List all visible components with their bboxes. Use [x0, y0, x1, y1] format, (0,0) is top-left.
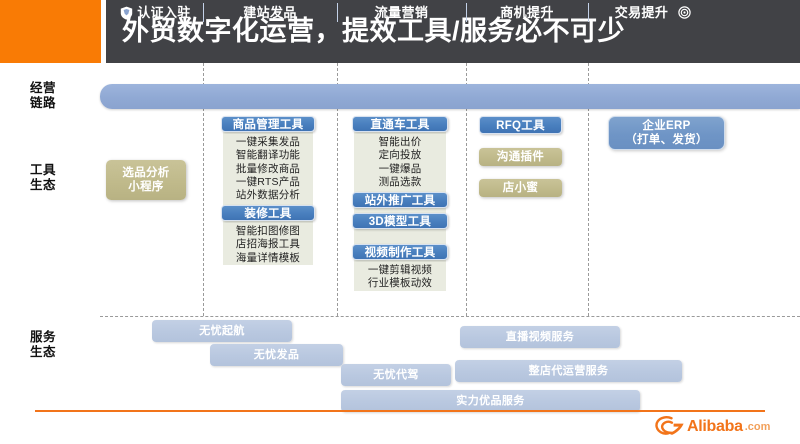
row-label-tools: 工具 生态: [30, 163, 90, 193]
stage-item-2-label: 建站发品: [243, 0, 297, 25]
stage-item-4[interactable]: 商机提升: [466, 0, 588, 25]
row-label-tools-line1: 工具: [30, 163, 90, 178]
stage-item-1[interactable]: 认证入驻: [108, 0, 203, 25]
tool-card-shop-assistant-label: 店小蜜: [503, 181, 538, 195]
tool-header-product-management[interactable]: 商品管理工具: [221, 116, 315, 132]
tool-list-video-production: 一键剪辑视频 行业模板动效: [354, 262, 446, 291]
service-bar-full-shop-operation[interactable]: 整店代运营服务: [455, 360, 682, 382]
service-section-divider: [100, 316, 800, 317]
tool-card-shop-assistant[interactable]: 店小蜜: [479, 179, 562, 197]
tool-header-decoration[interactable]: 装修工具: [221, 205, 315, 221]
alibaba-logo: Alibaba .com: [655, 414, 770, 440]
row-label-chain: 经营 链路: [30, 81, 90, 111]
tool-item: 站外数据分析: [223, 189, 313, 202]
target-icon: [678, 6, 691, 19]
row-label-chain-line1: 经营: [30, 81, 90, 96]
shield-icon: [120, 6, 133, 20]
stage-item-2[interactable]: 建站发品: [203, 0, 337, 25]
stage-item-5-label: 交易提升: [615, 0, 669, 25]
tool-card-chat-plugin-label: 沟通插件: [497, 150, 544, 164]
stage-item-1-label: 认证入驻: [137, 0, 191, 25]
tool-item: 一键RTS产品: [223, 176, 313, 189]
service-bar-worry-free-listing[interactable]: 无忧发品: [210, 344, 343, 366]
tool-item: 智能翻译功能: [223, 149, 313, 162]
tool-card-enterprise-erp[interactable]: 企业ERP （打单、发货）: [608, 116, 725, 150]
stage-item-5[interactable]: 交易提升: [588, 0, 718, 25]
stage-item-4-label: 商机提升: [500, 0, 554, 25]
tool-card-enterprise-erp-line1: 企业ERP: [642, 119, 690, 133]
tool-item: 批量修改商品: [223, 163, 313, 176]
tool-item: 测品选款: [354, 176, 446, 189]
tool-header-video-production[interactable]: 视频制作工具: [352, 244, 448, 260]
tool-card-product-selection[interactable]: 选品分析 小程序: [106, 160, 186, 200]
tool-item: 智能出价: [354, 136, 446, 149]
stage-item-3-label: 流量营销: [375, 0, 429, 25]
tool-card-enterprise-erp-line2: （打单、发货）: [625, 133, 708, 147]
row-label-services-line2: 生态: [30, 345, 90, 360]
tool-card-chat-plugin[interactable]: 沟通插件: [479, 148, 562, 166]
slide-canvas: 外贸数字化运营，提效工具/服务必不可少 经营 链路 工具 生态 服务 生态 认证…: [0, 0, 800, 444]
tool-header-ad-platform[interactable]: 直通车工具: [352, 116, 448, 132]
tool-item: 一键剪辑视频: [354, 264, 446, 277]
alibaba-logo-domain: .com: [745, 421, 771, 433]
alibaba-mark-icon: [655, 416, 685, 438]
header-accent-block: [0, 0, 101, 63]
service-bar-worry-free-launch[interactable]: 无忧起航: [152, 320, 292, 342]
tool-item: 一键爆品: [354, 163, 446, 176]
alibaba-logo-text: Alibaba: [687, 418, 743, 436]
row-label-services-line1: 服务: [30, 330, 90, 345]
stage-pipeline-bar: [100, 84, 800, 109]
service-bar-live-video-service[interactable]: 直播视频服务: [460, 326, 620, 348]
service-bar-quality-products[interactable]: 实力优品服务: [341, 390, 640, 412]
row-label-tools-line2: 生态: [30, 178, 90, 193]
tool-item: 海量详情模板: [223, 252, 313, 265]
tool-item: 店招海报工具: [223, 238, 313, 251]
tool-list-ad-platform: 智能出价 定向投放 一键爆品 测品选款: [354, 134, 446, 189]
service-bar-worry-free-driving[interactable]: 无忧代驾: [341, 364, 451, 386]
tool-list-decoration: 智能扣图修图 店招海报工具 海量详情模板: [223, 223, 313, 265]
tool-card-product-selection-line1: 选品分析: [122, 166, 169, 180]
tool-header-3d-model[interactable]: 3D模型工具: [352, 213, 448, 229]
stage-item-3[interactable]: 流量营销: [337, 0, 466, 25]
footer-rule: [35, 410, 765, 412]
tool-list-product-management: 一键采集发品 智能翻译功能 批量修改商品 一键RTS产品 站外数据分析: [223, 134, 313, 202]
tool-header-offsite-promotion[interactable]: 站外推广工具: [352, 192, 448, 208]
tool-item: 定向投放: [354, 149, 446, 162]
tool-card-product-selection-line2: 小程序: [128, 180, 163, 194]
tool-card-rfq[interactable]: RFQ工具: [479, 116, 562, 134]
row-label-chain-line2: 链路: [30, 96, 90, 111]
row-label-services: 服务 生态: [30, 330, 90, 360]
tool-item: 行业模板动效: [354, 277, 446, 290]
tool-item: 一键采集发品: [223, 136, 313, 149]
tool-item: 智能扣图修图: [223, 225, 313, 238]
